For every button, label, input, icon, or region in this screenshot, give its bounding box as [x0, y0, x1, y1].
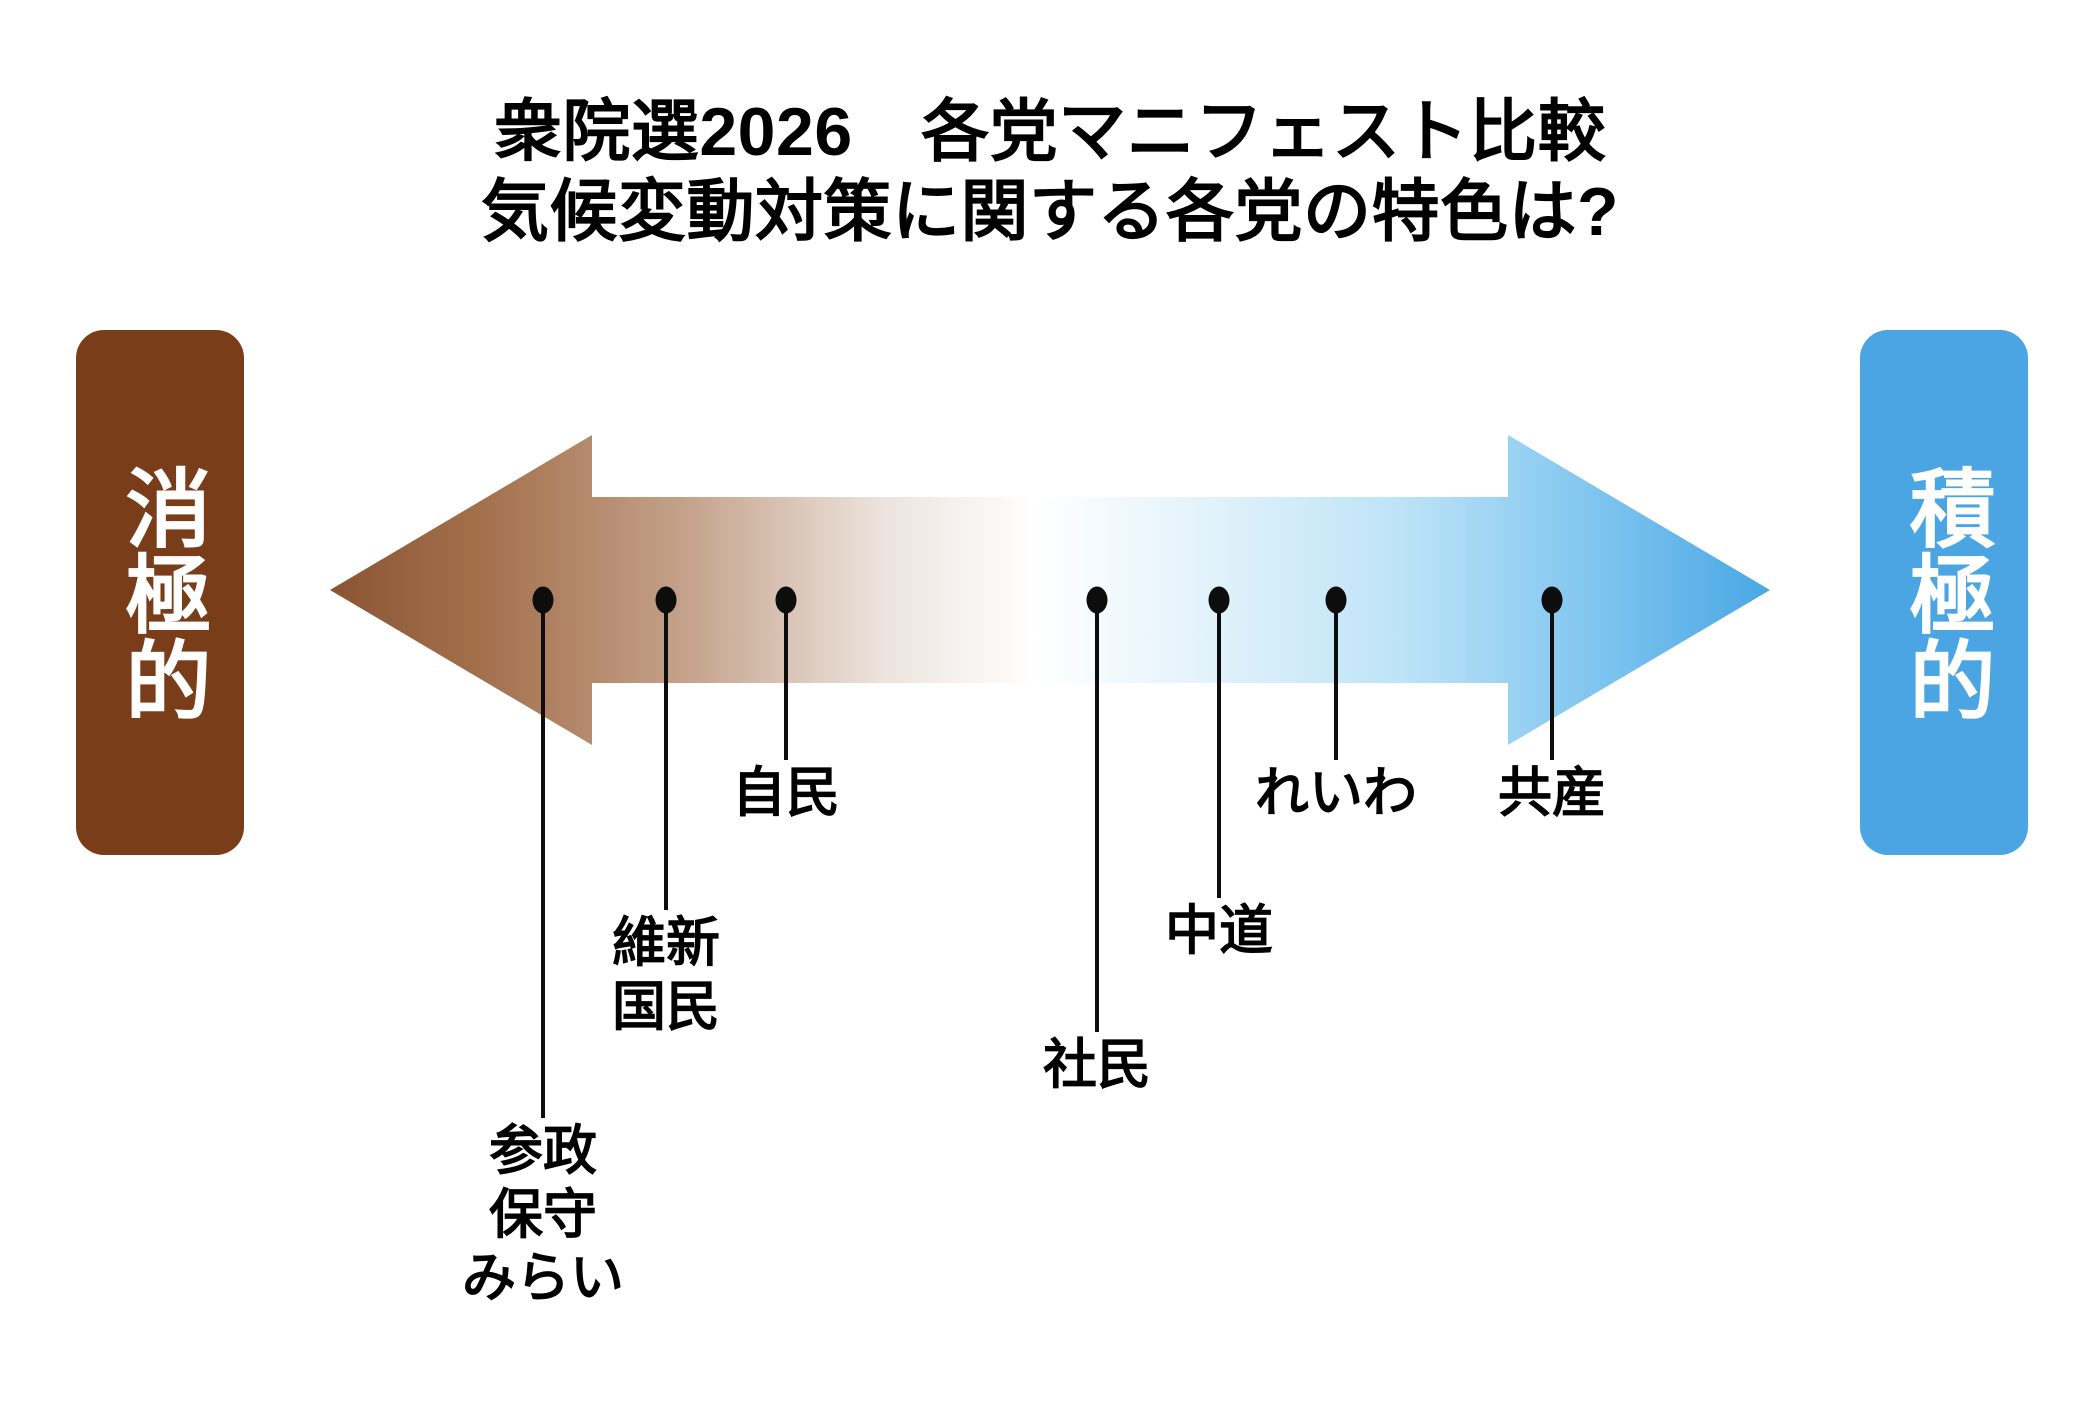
marker-leader-line [1334, 600, 1338, 760]
marker-leader-line [1217, 600, 1221, 898]
marker-leader-line [541, 600, 545, 1118]
marker-label-ishin-kokumin: 維新 国民 [612, 912, 720, 1039]
marker-label-chudo: 中道 [1165, 900, 1273, 964]
axis-label-positive-badge: 積極的 [1860, 330, 2028, 855]
infographic-canvas: 衆院選2026 各党マニフェスト比較 気候変動対策に関する各党の特色は? 消極的… [0, 0, 2100, 1406]
marker-dot [656, 587, 677, 614]
marker-dot [1209, 587, 1230, 614]
axis-label-positive-text: 積極的 [1895, 464, 1993, 722]
marker-label-reiwa: れいわ [1255, 762, 1417, 826]
marker-label-jimin: 自民 [732, 762, 840, 826]
marker-dot [1326, 587, 1347, 614]
marker-dot [533, 587, 554, 614]
marker-dot [776, 587, 797, 614]
marker-label-kyosan: 共産 [1498, 762, 1606, 826]
marker-leader-line [1095, 600, 1099, 1032]
axis-label-negative-badge: 消極的 [76, 330, 244, 855]
marker-label-shamin: 社民 [1043, 1034, 1151, 1098]
title-line-1: 衆院選2026 各党マニフェスト比較 [0, 92, 2100, 172]
arrow-right-half [1036, 435, 1770, 745]
marker-dot [1542, 587, 1563, 614]
axis-label-negative-text: 消極的 [111, 464, 209, 722]
chart-title-block: 衆院選2026 各党マニフェスト比較 気候変動対策に関する各党の特色は? [0, 92, 2100, 252]
marker-leader-line [1550, 600, 1554, 760]
marker-leader-line [784, 600, 788, 760]
marker-label-sanseito-hoshu-mirai: 参政 保守 みらい [462, 1120, 624, 1311]
marker-leader-line [664, 600, 668, 910]
title-line-2: 気候変動対策に関する各党の特色は? [0, 172, 2100, 252]
arrow-left-half [330, 435, 1036, 745]
marker-dot [1087, 587, 1108, 614]
